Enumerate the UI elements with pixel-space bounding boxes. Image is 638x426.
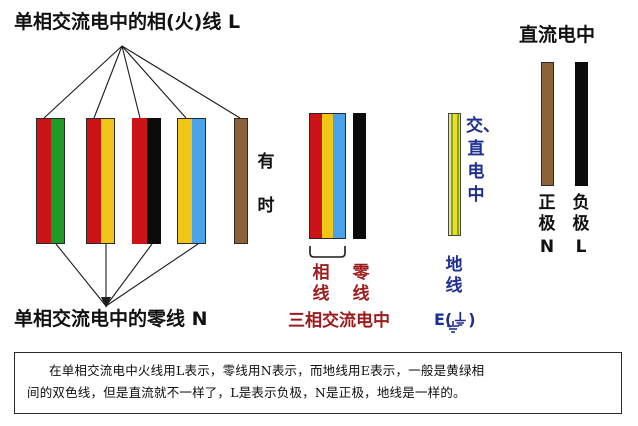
three-phase-label-phase: 相 线 (310, 263, 332, 306)
three-phase-bar-rgb (309, 113, 346, 239)
page-title-hot-wire: 单相交流电中的相(火)线 L (14, 13, 240, 32)
dc-title: 直流电中 (519, 26, 595, 45)
single-phase-wire-brown (234, 118, 248, 244)
three-phase-label-neutral: 零 线 (350, 263, 372, 306)
note-text-2: 间的双色线，但是直流就不一样了，L是表示负极，N是正极，地线是一样的。 (27, 385, 466, 400)
note-box: 在单相交流电中火线用L表示，零线用N表示，而地线用E表示，一般是黄绿相 间的双色… (14, 352, 622, 414)
wire-segment-brown (235, 119, 247, 243)
wire-segment-yellow (101, 119, 115, 243)
ground-ac-dc-label: 交、直电中 (466, 115, 486, 207)
wire-segment-black (575, 62, 588, 186)
wire-segment-green (51, 119, 65, 243)
ground-symbol-label: E(⏚) (434, 312, 476, 328)
three-phase-title: 三相交流电中 (288, 313, 390, 330)
note-text-1: 在单相交流电中火线用L表示，零线用N表示，而地线用E表示，一般是黄绿相 (49, 363, 484, 378)
wire-segment-brown (542, 63, 553, 185)
wire-segment-blue (192, 119, 206, 243)
wire-segment-red (132, 118, 147, 244)
dc-negative-bar-black (575, 62, 588, 186)
single-phase-wire-yellow-blue (177, 118, 206, 244)
dc-positive-bar-brown (541, 62, 554, 186)
sometimes-label-visible: 有时 (256, 140, 276, 228)
note-line-2: 间的双色线，但是直流就不一样了，L是表示负极，N是正极，地线是一样的。 (27, 382, 609, 404)
wire-segment-red (87, 119, 101, 243)
note-line-1: 在单相交流电中火线用L表示，零线用N表示，而地线用E表示，一般是黄绿相 (27, 360, 609, 382)
wire-segment-red (310, 114, 322, 238)
single-phase-wire-red-yellow (86, 118, 115, 244)
single-phase-wire-red-black (132, 118, 161, 244)
wire-segment-blue (333, 114, 345, 238)
ground-wire-bar (448, 113, 461, 236)
wire-segment-yellow (322, 114, 334, 238)
dc-negative-label: 负极 (570, 193, 592, 236)
wire-segment-red (37, 119, 51, 243)
wire-segment-black (353, 113, 366, 239)
wire-segment-yellow (178, 119, 192, 243)
ground-wire-label: 地线 (442, 255, 466, 298)
dc-positive-letter: N (536, 239, 558, 256)
diagram-canvas: 单相交流电中的相(火)线 L 单相交流电中的零线 N 三相交流电中 直流电中 有… (0, 0, 638, 426)
dc-positive-label: 正极 (536, 193, 558, 236)
dc-negative-letter: L (570, 239, 592, 256)
three-phase-neutral-bar-black (353, 113, 366, 239)
wire-segment-black (147, 118, 162, 244)
single-phase-wire-red-green (36, 118, 65, 244)
page-title-neutral-wire: 单相交流电中的零线 N (14, 310, 208, 329)
